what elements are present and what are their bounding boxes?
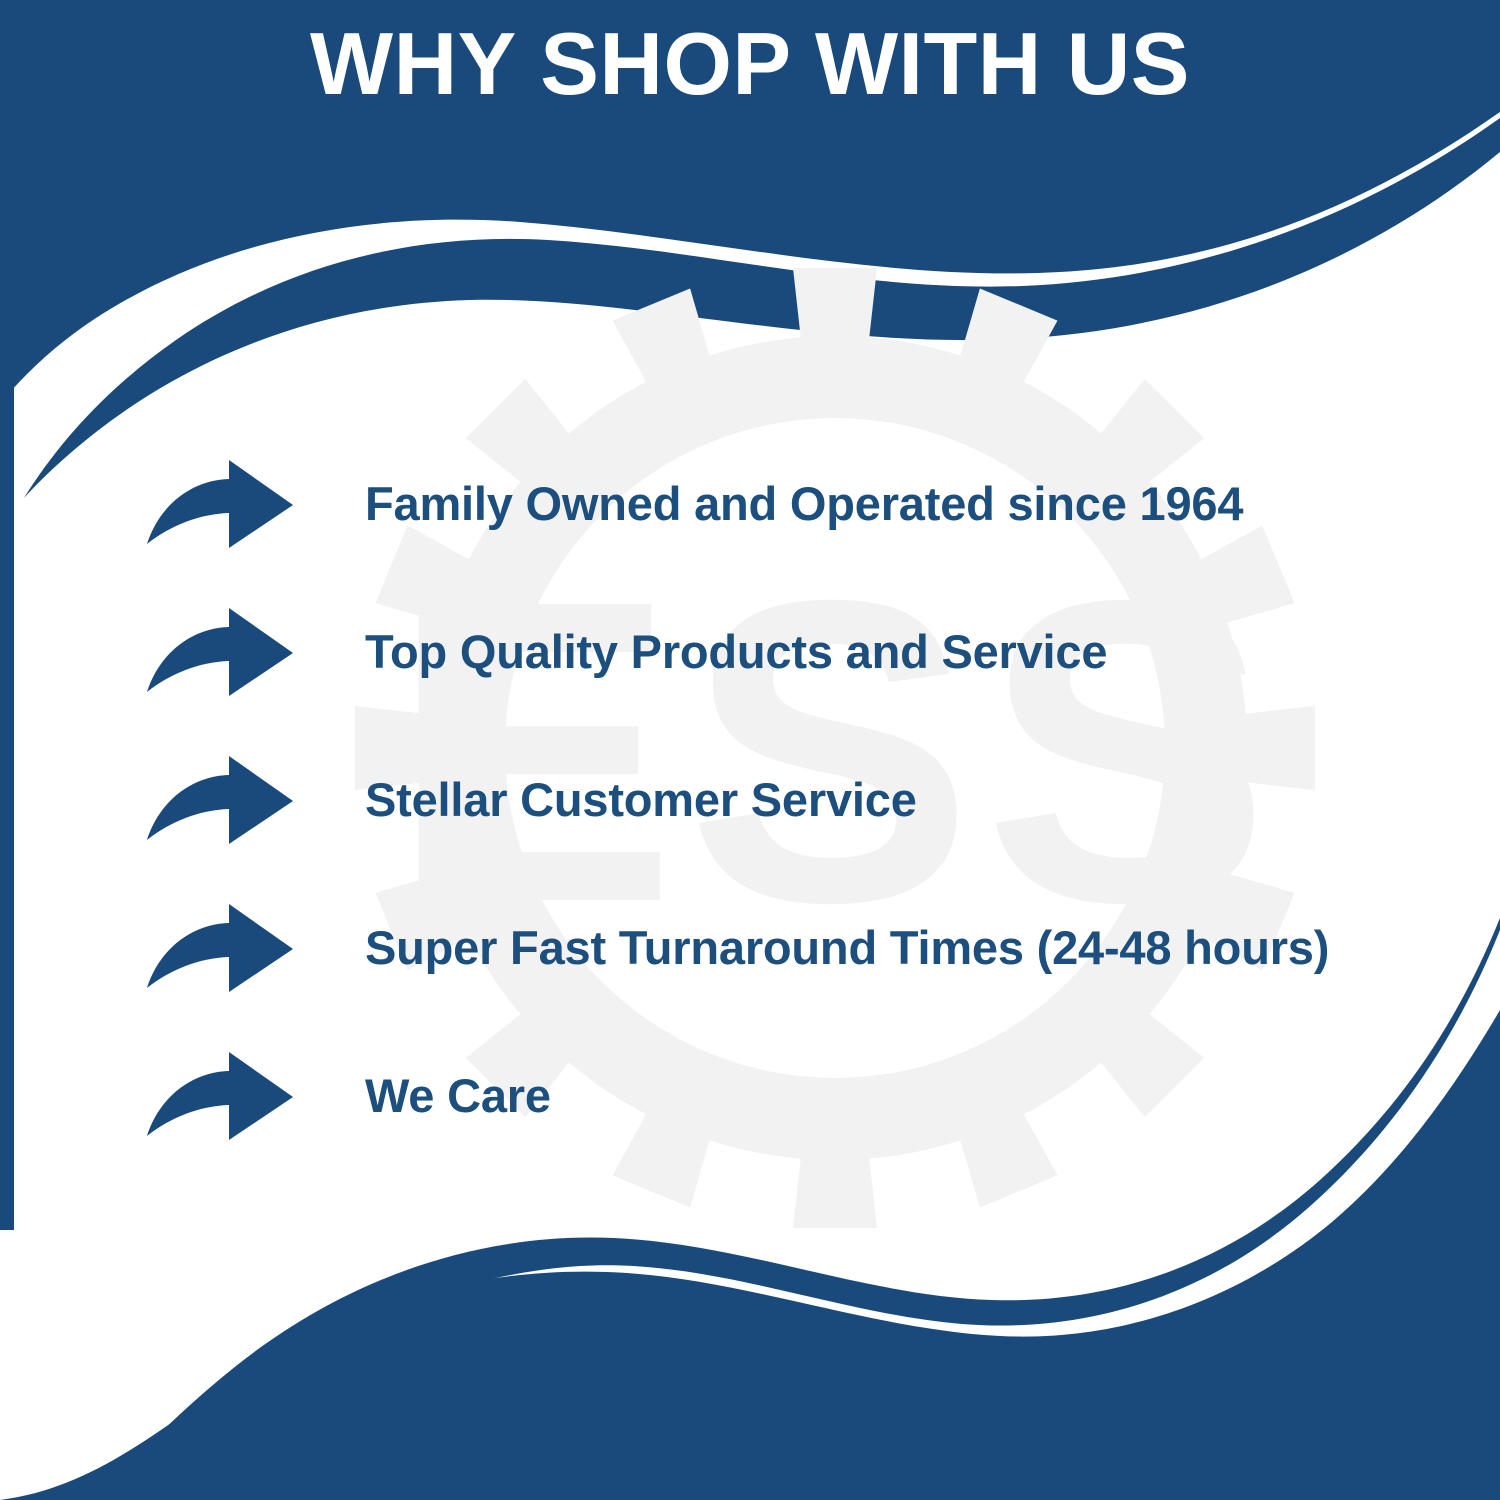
left-edge-strip xyxy=(0,300,14,1230)
benefit-label: Top Quality Products and Service xyxy=(365,625,1465,679)
list-item: Super Fast Turnaround Times (24-48 hours… xyxy=(145,874,1465,1022)
list-item: We Care xyxy=(145,1022,1465,1170)
benefit-label: Family Owned and Operated since 1964 xyxy=(365,477,1465,531)
curved-arrow-right-icon xyxy=(145,458,295,550)
header: WHY SHOP WITH US xyxy=(0,18,1500,110)
benefit-label: We Care xyxy=(365,1069,1465,1123)
list-item: Stellar Customer Service xyxy=(145,726,1465,874)
curved-arrow-right-icon xyxy=(145,902,295,994)
curved-arrow-right-icon xyxy=(145,606,295,698)
poster-canvas: ESS WHY SHOP WITH US Family Owned and Op… xyxy=(0,0,1500,1500)
benefits-list: Family Owned and Operated since 1964 Top… xyxy=(145,430,1465,1170)
benefit-label: Super Fast Turnaround Times (24-48 hours… xyxy=(365,921,1465,975)
benefit-label: Stellar Customer Service xyxy=(365,773,1465,827)
page-title: WHY SHOP WITH US xyxy=(310,18,1190,110)
list-item: Family Owned and Operated since 1964 xyxy=(145,430,1465,578)
list-item: Top Quality Products and Service xyxy=(145,578,1465,726)
curved-arrow-right-icon xyxy=(145,754,295,846)
curved-arrow-right-icon xyxy=(145,1050,295,1142)
